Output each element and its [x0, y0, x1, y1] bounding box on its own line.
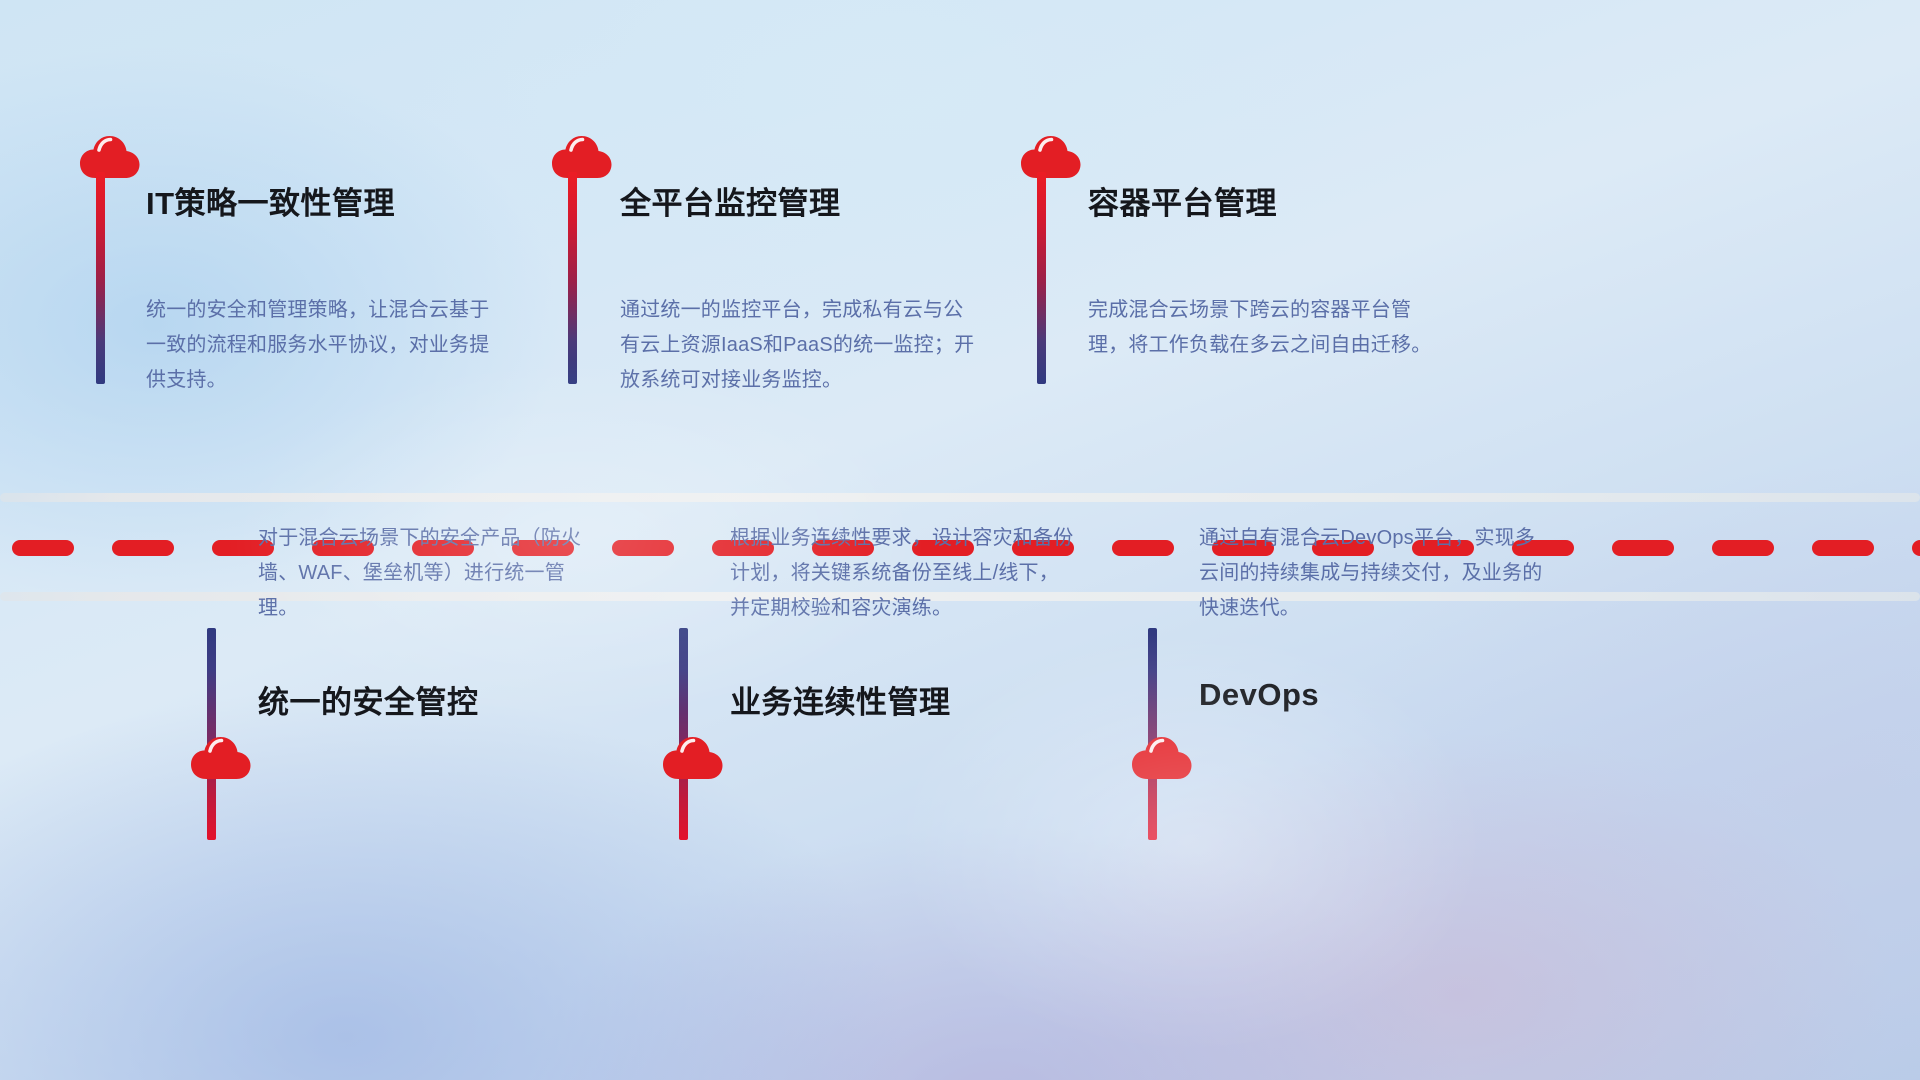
road-dash — [1912, 540, 1920, 556]
connector-stem — [1037, 172, 1046, 384]
column-body: 通过自有混合云DevOps平台，实现多云间的持续集成与持续交付，及业务的快速迭代… — [1199, 521, 1543, 626]
cloud-icon — [78, 130, 142, 182]
road-dash — [12, 540, 74, 556]
connector-stem — [568, 172, 577, 384]
column-body: 统一的安全和管理策略，让混合云基于一致的流程和服务水平协议，对业务提供支持。 — [146, 293, 506, 398]
road-line-top — [0, 493, 1920, 502]
cloud-icon — [189, 731, 253, 783]
road-dash — [1712, 540, 1774, 556]
column-body: 通过统一的监控平台，完成私有云与公有云上资源IaaS和PaaS的统一监控；开放系… — [620, 293, 982, 398]
column-heading: DevOps — [1199, 677, 1319, 713]
road-dash — [112, 540, 174, 556]
road-dash — [1612, 540, 1674, 556]
column-heading: 全平台监控管理 — [620, 178, 841, 223]
cloud-icon — [550, 130, 614, 182]
cloud-icon — [1019, 130, 1083, 182]
column-heading: 业务连续性管理 — [730, 677, 951, 722]
cloud-icon — [1130, 731, 1194, 783]
column-heading: 容器平台管理 — [1088, 178, 1277, 223]
infographic-canvas: IT策略一致性管理 统一的安全和管理策略，让混合云基于一致的流程和服务水平协议，… — [0, 0, 1920, 1080]
column-heading: IT策略一致性管理 — [146, 178, 395, 223]
road-dash — [612, 540, 674, 556]
column-heading: 统一的安全管控 — [258, 677, 479, 722]
road-dash — [1112, 540, 1174, 556]
column-body: 对于混合云场景下的安全产品（防火墙、WAF、堡垒机等）进行统一管理。 — [258, 521, 604, 626]
cloud-icon — [661, 731, 725, 783]
road-dash — [1812, 540, 1874, 556]
column-body: 完成混合云场景下跨云的容器平台管理，将工作负载在多云之间自由迁移。 — [1088, 293, 1448, 363]
connector-stem — [96, 172, 105, 384]
column-body: 根据业务连续性要求，设计容灾和备份计划，将关键系统备份至线上/线下，并定期校验和… — [730, 521, 1074, 626]
